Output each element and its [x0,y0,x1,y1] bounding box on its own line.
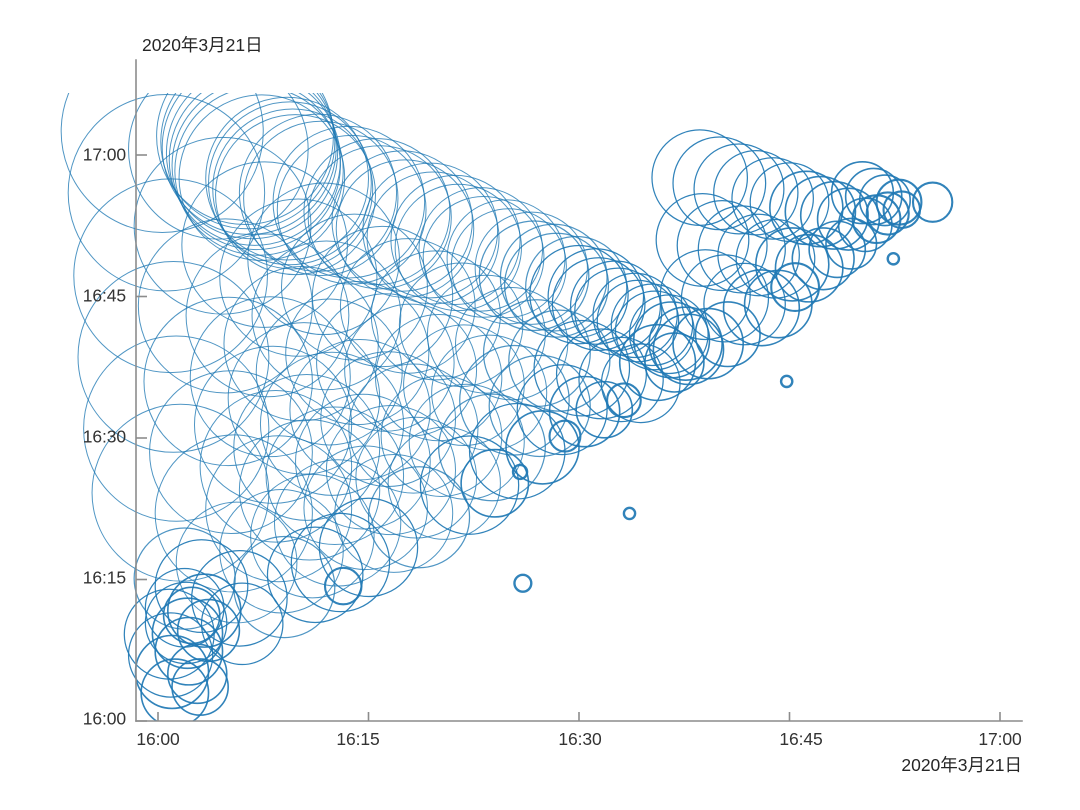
bubble-marker [624,508,635,519]
bubble-marker [656,194,749,287]
bubble-marker [345,304,477,436]
bubble-marker [781,376,792,387]
bubble-marker [888,253,899,264]
bubble-marker [175,87,343,255]
ytick-label-1700: 17:00 [50,145,126,166]
y-axis-title: 2020年3月21日 [142,32,263,57]
xtick-label-1700: 17:00 [978,729,1021,750]
xtick-label-1645: 16:45 [779,729,822,750]
x-axis-title: 2020年3月21日 [901,752,1022,777]
bubble-marker [296,394,431,529]
bubble-marker [335,455,453,573]
bubble-marker [168,644,227,703]
bubble-marker [304,446,428,570]
bubble-marker [312,226,452,366]
bubble-series [61,30,952,726]
ytick-label-1645: 16:45 [50,286,126,307]
bubble-marker [282,214,428,360]
bubble-marker [202,583,283,664]
xtick-label-1600: 16:00 [136,729,179,750]
bubble-marker [336,160,474,298]
ytick-label-1600: 16:00 [50,709,126,730]
xtick-label-1630: 16:30 [558,729,601,750]
bubble-marker [277,135,426,284]
bubble-marker [724,270,800,346]
bubble-marker [732,158,813,239]
bubble-marker [877,180,922,225]
bubble-marker [169,74,340,245]
bubble-chart-figure: 17:00 16:45 16:30 16:15 16:00 16:00 16:1… [0,0,1080,810]
bubble-marker [304,139,450,285]
bubble-marker [144,297,312,465]
bubble-marker [369,467,470,568]
plot-canvas [0,0,1080,810]
bubble-marker [514,575,531,592]
bubble-marker [129,60,309,240]
bubble-marker [74,179,268,373]
ytick-label-1630: 16:30 [50,427,126,448]
ytick-label-1615: 16:15 [50,568,126,589]
bubble-marker [673,309,743,379]
xtick-label-1615: 16:15 [336,729,379,750]
